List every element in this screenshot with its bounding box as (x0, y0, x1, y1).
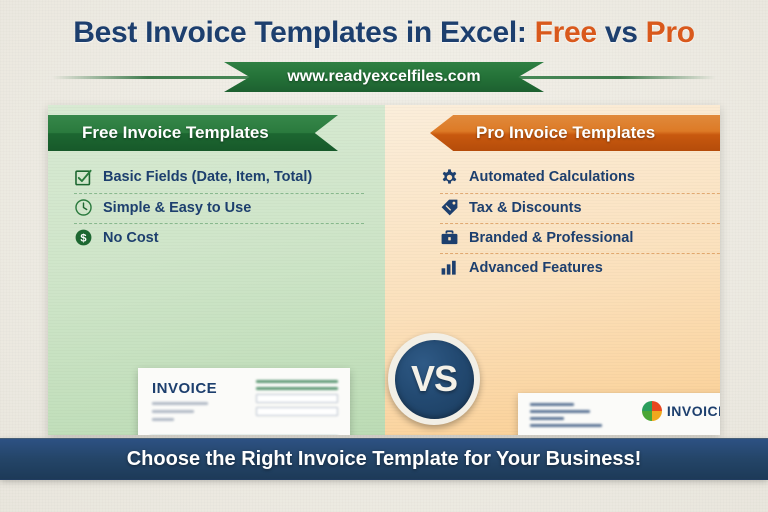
meta-line (152, 410, 194, 413)
date-field-box (256, 394, 338, 403)
clock-icon (74, 198, 93, 217)
page-title: Best Invoice Templates in Excel: Free vs… (0, 16, 768, 50)
free-feature-label-1: Basic Fields (Date, Item, Total) (103, 169, 312, 185)
free-invoice-meta (152, 402, 208, 426)
free-feature-item-2: Simple & Easy to Use (74, 193, 364, 223)
dollar-icon: $ (74, 228, 93, 247)
meta-line (530, 424, 602, 427)
pro-feature-label-2: Tax & Discounts (469, 200, 582, 216)
page-title-vs: vs (605, 16, 638, 49)
svg-text:$: $ (80, 232, 86, 244)
pro-panel-heading: Pro Invoice Templates (430, 115, 720, 151)
free-feature-list: Basic Fields (Date, Item, Total) Simple … (74, 163, 364, 253)
checkbox-icon (74, 168, 93, 187)
meta-line (530, 417, 564, 420)
free-feature-item-1: Basic Fields (Date, Item, Total) (74, 163, 364, 193)
meta-line (530, 410, 590, 413)
pro-feature-label-1: Automated Calculations (469, 169, 635, 185)
free-feature-label-2: Simple & Easy to Use (103, 200, 251, 216)
pro-feature-list: Automated Calculations Tax & Discounts B… (440, 163, 720, 283)
pro-feature-item-1: Automated Calculations (440, 163, 720, 193)
pro-feature-label-3: Branded & Professional (469, 230, 633, 246)
pro-invoice-meta (530, 403, 602, 431)
comparison-board: Free Invoice Templates Pro Invoice Templ… (48, 105, 720, 435)
pro-feature-item-3: Branded & Professional (440, 223, 720, 253)
accent-line (256, 380, 338, 383)
page-title-free: Free (535, 16, 597, 49)
company-logo-icon (642, 401, 662, 421)
bar-chart-icon (440, 258, 459, 277)
footer-banner: Choose the Right Invoice Template for Yo… (0, 438, 768, 480)
pro-invoice-logo-block: INVOICE (642, 401, 720, 421)
page-title-main: Best Invoice Templates in Excel: (73, 16, 526, 49)
pro-invoice-mockup: INVOICE Description Qty Rate Amount Bran… (518, 393, 720, 435)
accent-line (256, 387, 338, 390)
meta-line (152, 402, 208, 405)
pro-feature-label-4: Advanced Features (469, 260, 603, 276)
free-panel-heading: Free Invoice Templates (48, 115, 338, 151)
free-invoice-heading: INVOICE (152, 380, 217, 397)
meta-line (152, 418, 174, 421)
free-feature-label-3: No Cost (103, 230, 159, 246)
vs-badge: VS (388, 333, 480, 425)
vs-badge-label: VS (395, 340, 474, 419)
invoice-field-box (256, 407, 338, 416)
briefcase-icon (440, 228, 459, 247)
free-feature-item-3: $ No Cost (74, 223, 364, 253)
website-url-ribbon[interactable]: www.readyexcelfiles.com (224, 62, 544, 92)
page-title-pro: Pro (646, 16, 695, 49)
gear-icon (440, 168, 459, 187)
free-invoice-mockup: INVOICE Description Qty Price Amount Pro… (138, 368, 350, 435)
meta-line (530, 403, 574, 406)
pro-feature-item-2: Tax & Discounts (440, 193, 720, 223)
tag-icon (440, 198, 459, 217)
free-invoice-date-block (256, 380, 338, 416)
url-ribbon-wrapper: www.readyexcelfiles.com (0, 62, 768, 92)
pro-feature-item-4: Advanced Features (440, 253, 720, 283)
pro-invoice-heading: INVOICE (667, 403, 720, 419)
